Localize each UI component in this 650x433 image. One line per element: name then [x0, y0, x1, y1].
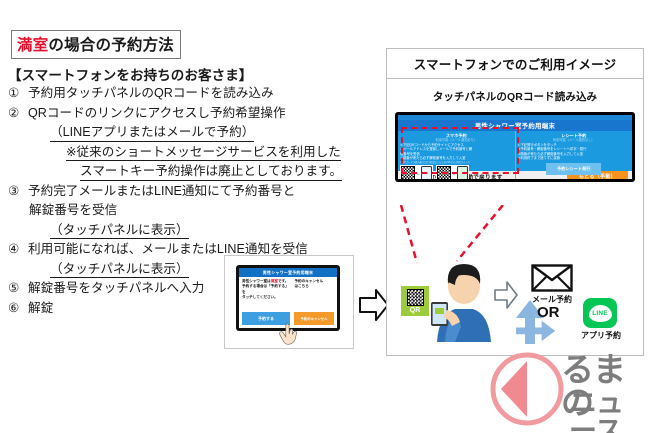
step-number: ④	[8, 240, 28, 260]
list-item: ① 予約用タッチパネルのQRコードを読み込み	[8, 84, 368, 104]
small-panel-text-d: タッチしてください。	[242, 295, 278, 299]
small-panel-text-c: 予約する場合は「予約する」を	[242, 284, 289, 293]
mail-envelope-icon	[531, 264, 573, 292]
small-panel-body: 男性シャワー室は満室です。 予約する場合は「予約する」を タッチしてください。 …	[239, 277, 337, 303]
red-highlight-box	[401, 127, 519, 174]
page-title-highlight: 満室	[17, 37, 48, 54]
qr-code-green-block: QR	[401, 286, 429, 316]
kurumanews-logo-mark	[489, 351, 565, 427]
slide-canvas: 満室の場合の予約方法 【スマートフォンをお持ちのお客さま】 ① 予約用タッチパネ…	[0, 0, 650, 433]
terminal-screenshot: 男性シャワー室予約用端末 スマホ予約 利用可能（メール通知あり） ①下記QRコー…	[395, 112, 635, 182]
line-logo-text: LINE	[589, 305, 612, 322]
panel-title: スマートフォンでのご利用イメージ	[387, 49, 643, 79]
small-panel-cancel-b: はこちら	[294, 284, 308, 288]
step-subline-text: （タッチパネルに表示）	[50, 223, 189, 240]
issue-receipt-button[interactable]: 予約レシート発行	[546, 163, 601, 175]
qr-code-icon	[407, 289, 424, 306]
qr-label: QR	[410, 307, 421, 314]
page-title-rest: の場合の予約方法	[48, 37, 174, 54]
small-panel-text-b: です。	[278, 279, 288, 283]
cancel-reservation-button[interactable]: 予約のキャンセル	[294, 312, 334, 325]
step-subline: 解錠番号を受信	[8, 201, 368, 221]
step-subline-text: ※従来のショートメッセージサービスを利用した	[66, 145, 341, 162]
left-content-column: 満室の場合の予約方法 【スマートフォンをお持ちのお客さま】 ① 予約用タッチパネ…	[0, 0, 380, 433]
small-panel-cancel-a: 予約のキャンセル	[294, 279, 323, 283]
step-number: ①	[8, 84, 28, 104]
step-number: ⑤	[8, 279, 28, 299]
step-number: ②	[8, 104, 28, 124]
list-item: ③ 予約完了メールまたはLINE通知にて予約番号と	[8, 182, 368, 202]
small-panel-left-text: 男性シャワー室は満室です。 予約する場合は「予約する」を タッチしてください。	[242, 279, 291, 301]
person-with-phone-illustration	[431, 262, 497, 342]
step-number: ③	[8, 182, 28, 202]
step-subline-text: （タッチパネルに表示）	[50, 262, 189, 279]
step-text: 予約完了メールまたはLINE通知にて予約番号と	[28, 182, 368, 202]
step-subline-text: （LINEアプリまたはメールで予約）	[50, 125, 254, 142]
step-subline: ※従来のショートメッセージサービスを利用した	[8, 143, 368, 163]
small-panel-header: 男性シャワー室予約用端末	[239, 268, 337, 277]
step-subline: （タッチパネルに表示）	[8, 221, 368, 241]
small-panel-right-text: 予約のキャンセル はこちら	[294, 279, 334, 301]
or-label: OR	[537, 304, 560, 321]
smartphone-usage-panel: スマートフォンでのご利用イメージ タッチパネルのQRコード読み込み 男性シャワー…	[386, 48, 644, 356]
line-app-icon: LINE	[583, 298, 617, 328]
terminal-column-receipt: レシート予約 利用可能（メール通知なし） ①下記発行ボタンをタッチ ②予約番号・…	[516, 131, 633, 171]
section-heading: 【スマートフォンをお持ちのお客さま】	[8, 64, 252, 84]
column-item: ④利用終了まで捨てずに保管	[518, 156, 631, 160]
small-panel-inner: 男性シャワー室予約用端末 男性シャワー室は満室です。 予約する場合は「予約する」…	[239, 268, 337, 328]
page-title: 満室の場合の予約方法	[11, 30, 181, 59]
watermark-line-2: ニュース	[569, 389, 649, 433]
small-touch-panel-figure: 男性シャワー室予約用端末 男性シャワー室は満室です。 予約する場合は「予約する」…	[224, 255, 354, 349]
small-panel-text-red: 満室	[271, 279, 278, 283]
pointing-hand-icon	[277, 322, 299, 346]
step-subline-text: 解錠番号を受信	[29, 203, 117, 217]
watermark-logo: るまの ニュース	[489, 345, 649, 433]
step-number: ⑥	[8, 299, 28, 319]
small-panel-text-a: 男性シャワー室は	[242, 279, 271, 283]
app-reservation-label: アプリ予約	[577, 330, 625, 341]
step-subline: スマートキー予約操作は廃止としております。	[8, 162, 368, 182]
step-subline-text: スマートキー予約操作は廃止としております。	[80, 164, 342, 181]
step-text: QRコードのリンクにアクセスし予約希望操作	[28, 104, 368, 124]
usage-scene: QR メール予約	[387, 254, 643, 354]
step-subline: （LINEアプリまたはメールで予約）	[8, 123, 368, 143]
list-item: ② QRコードのリンクにアクセスし予約希望操作	[8, 104, 368, 124]
panel-subtitle: タッチパネルのQRコード読み込み	[387, 89, 643, 104]
step-text: 予約用タッチパネルのQRコードを読み込み	[28, 84, 368, 104]
